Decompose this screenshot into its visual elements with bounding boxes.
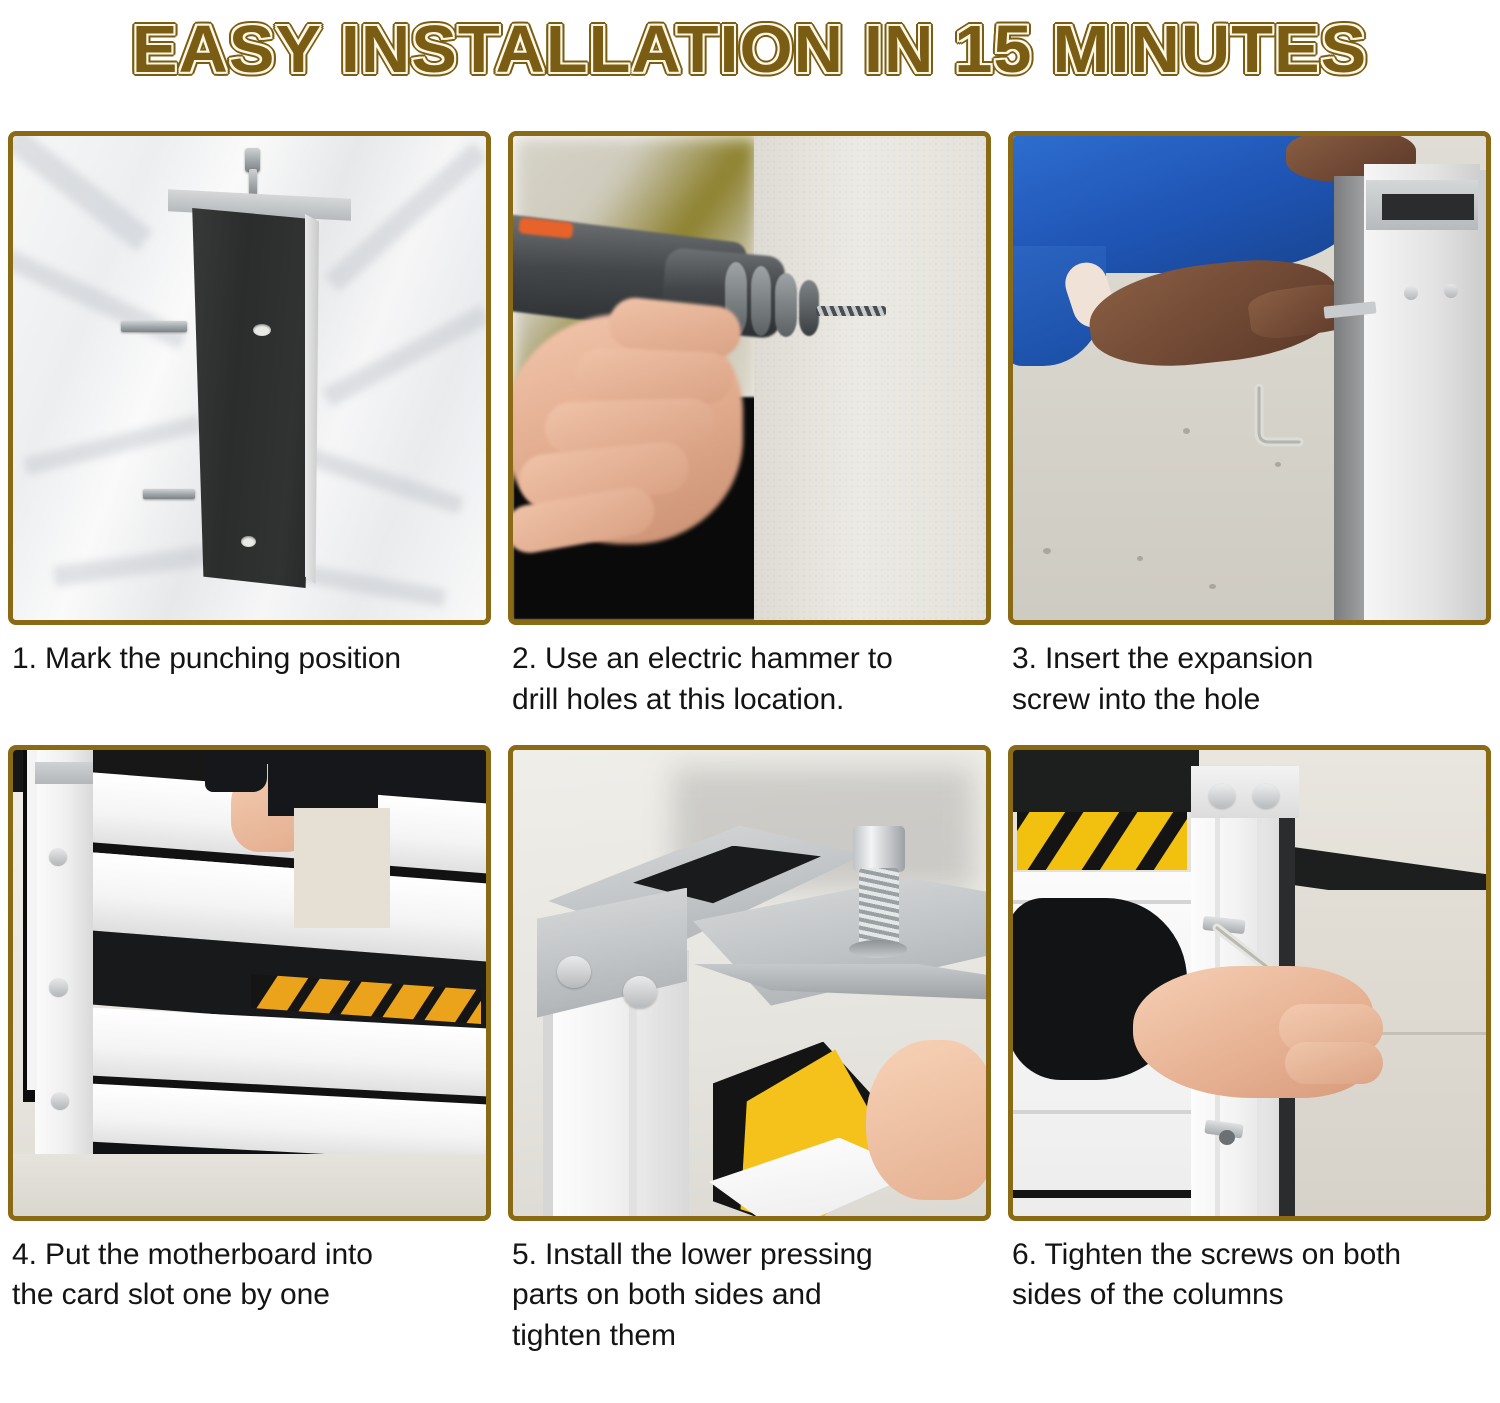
hazard-stripe [1017, 812, 1187, 870]
motherboard-into-card-slot-image [13, 750, 486, 1216]
steps-row-bottom: 4. Put the motherboard into the card slo… [8, 745, 1492, 1357]
drill-bit [816, 306, 886, 316]
page-title: EASY INSTALLATION IN 15 MINUTES [132, 11, 1367, 88]
installation-steps-grid: 1. Mark the punching position [8, 131, 1492, 1357]
step-2-photo-frame [508, 131, 991, 625]
phillips-screw-right [623, 976, 657, 1008]
step-5-photo-frame [508, 745, 991, 1221]
step-1-photo-frame [8, 131, 491, 625]
step-4-cell: 4. Put the motherboard into the card slo… [8, 745, 491, 1357]
step-2-cell: 2. Use an electric hammer to drill holes… [508, 131, 991, 721]
step-5-cell: 5. Install the lower pressing parts on b… [508, 745, 991, 1357]
step-6-cell: 6. Tighten the screws on both sides of t… [1008, 745, 1491, 1357]
top-screw-left [1209, 784, 1235, 808]
lower-pressing-parts-bracket-image [513, 750, 986, 1216]
step-6-photo-frame [1008, 745, 1491, 1221]
electric-hammer-drilling-wall-image [513, 136, 986, 620]
step-1-cell: 1. Mark the punching position [8, 131, 491, 721]
thumb-screw-head [853, 826, 905, 872]
phillips-screw-left [557, 956, 591, 988]
top-screw-right [1253, 784, 1279, 808]
tighten-screws-on-columns-image [1013, 750, 1486, 1216]
steps-row-top: 1. Mark the punching position [8, 131, 1492, 721]
allen-key-icon [1241, 384, 1321, 454]
step-6-caption: 6. Tighten the screws on both sides of t… [1008, 1235, 1491, 1317]
inserting-expansion-screw-image [1013, 136, 1486, 620]
step-4-caption: 4. Put the motherboard into the card slo… [8, 1235, 491, 1317]
step-5-caption: 5. Install the lower pressing parts on b… [508, 1235, 991, 1357]
step-1-caption: 1. Mark the punching position [8, 639, 491, 680]
step-2-caption: 2. Use an electric hammer to drill holes… [508, 639, 991, 721]
step-3-caption: 3. Insert the expansion screw into the h… [1008, 639, 1491, 721]
worker-finger [866, 1040, 986, 1200]
step-3-photo-frame [1008, 131, 1491, 625]
page-title-band: EASY INSTALLATION IN 15 MINUTES [0, 0, 1500, 98]
step-3-cell: 3. Insert the expansion screw into the h… [1008, 131, 1491, 721]
marked-hole-upper [253, 324, 271, 336]
step-4-photo-frame [8, 745, 491, 1221]
marked-hole-lower [241, 536, 256, 547]
column-with-marked-holes-image [13, 136, 486, 620]
